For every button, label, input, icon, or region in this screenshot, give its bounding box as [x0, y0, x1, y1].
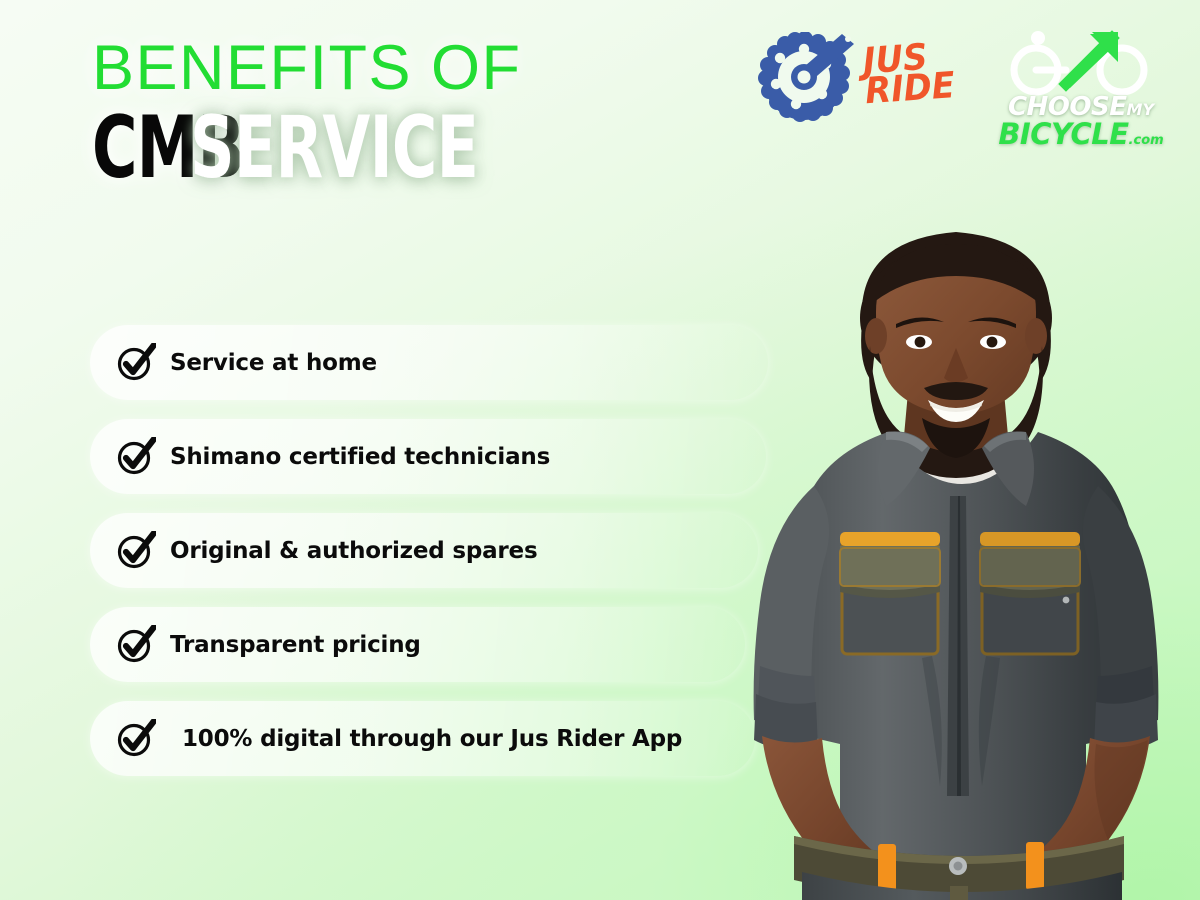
- list-item-label: Service at home: [170, 350, 377, 376]
- benefits-list: Service at home Shimano certified techni…: [90, 325, 790, 795]
- list-item-label: Shimano certified technicians: [170, 444, 550, 470]
- choose-my-bicycle-logo[interactable]: CHOOSEMY BICYCLE.com: [988, 26, 1174, 148]
- check-circle-icon: [116, 719, 156, 759]
- technician-photo: [736, 196, 1200, 900]
- chainring-crank-icon: [756, 32, 860, 137]
- list-item: Service at home: [90, 325, 768, 400]
- headline-line-1: BENEFITS OF: [92, 38, 732, 100]
- jus-ride-word-bottom: RIDE: [864, 71, 956, 107]
- list-item-label: 100% digital through our Jus Rider App: [182, 726, 682, 752]
- check-circle-icon: [116, 437, 156, 477]
- jus-ride-wordmark: JUS RIDE: [862, 41, 961, 107]
- cmb-word-my: MY: [1127, 100, 1155, 119]
- headline-line-2: CMB SERVICE: [92, 108, 732, 190]
- jus-ride-logo[interactable]: JUS RIDE: [756, 26, 954, 144]
- list-item: 100% digital through our Jus Rider App: [90, 701, 755, 776]
- list-item: Original & authorized spares: [90, 513, 758, 588]
- list-item-label: Transparent pricing: [170, 632, 421, 658]
- cmb-word-bicycle: BICYCLE: [998, 117, 1128, 151]
- cmb-word-com: .com: [1129, 133, 1164, 148]
- page-title: BENEFITS OF CMB SERVICE: [92, 38, 732, 189]
- list-item-label: Original & authorized spares: [170, 538, 537, 564]
- choose-my-bicycle-wordmark: CHOOSEMY BICYCLE.com: [988, 94, 1174, 149]
- list-item: Transparent pricing: [90, 607, 745, 682]
- list-item: Shimano certified technicians: [90, 419, 766, 494]
- check-circle-icon: [116, 343, 156, 383]
- check-circle-icon: [116, 531, 156, 571]
- logo-group: JUS RIDE: [756, 26, 1174, 148]
- headline-service: SERVICE: [190, 108, 478, 190]
- check-circle-icon: [116, 625, 156, 665]
- poster-canvas: BENEFITS OF CMB SERVICE: [0, 0, 1200, 900]
